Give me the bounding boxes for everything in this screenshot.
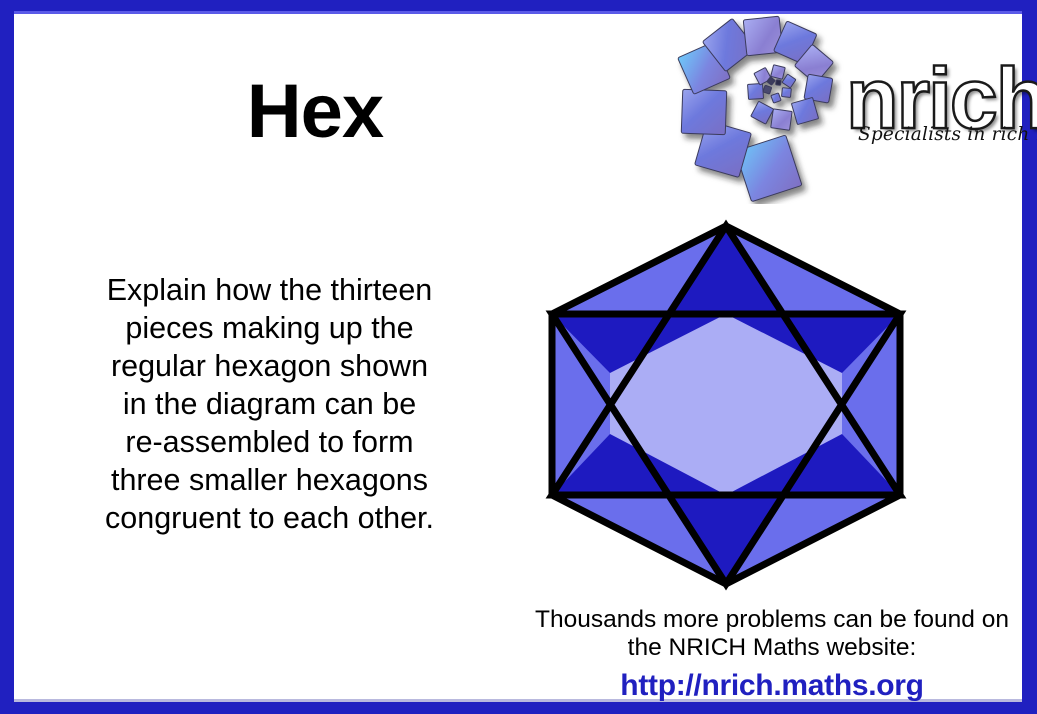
footer-line-2: the NRICH Maths website:	[522, 634, 1022, 662]
hexagon-diagram	[541, 215, 913, 595]
frame-bottom-border	[0, 702, 1037, 714]
footer-line-1: Thousands more problems can be found on	[522, 606, 1022, 634]
frame-top-border	[0, 0, 1037, 11]
hexagon-hexagram-svg	[541, 215, 913, 595]
frame-left-border	[0, 0, 14, 714]
problem-statement-line: regular hexagon shown	[62, 348, 477, 386]
footer: Thousands more problems can be found on …	[522, 606, 1022, 703]
problem-statement-line: re-assembled to form	[62, 424, 477, 462]
problem-statement-line: in the diagram can be	[62, 386, 477, 424]
problem-statement-line: congruent to each other.	[62, 500, 477, 538]
nrich-logo: nrich Specialists in rich mathematics	[660, 14, 1020, 204]
hexagon-faces	[552, 226, 900, 584]
problem-statement: Explain how the thirteen pieces making u…	[62, 272, 477, 538]
nrich-website-url[interactable]: http://nrich.maths.org	[522, 669, 1022, 703]
page-title: Hex	[150, 74, 480, 150]
problem-statement-line: three smaller hexagons	[62, 462, 477, 500]
nrich-tagline: Specialists in rich mathematics	[858, 124, 1037, 145]
problem-statement-line: Explain how the thirteen	[62, 272, 477, 310]
problem-statement-line: pieces making up the	[62, 310, 477, 348]
slide-canvas: Hex Explain how the thirteen pieces maki…	[0, 0, 1037, 714]
